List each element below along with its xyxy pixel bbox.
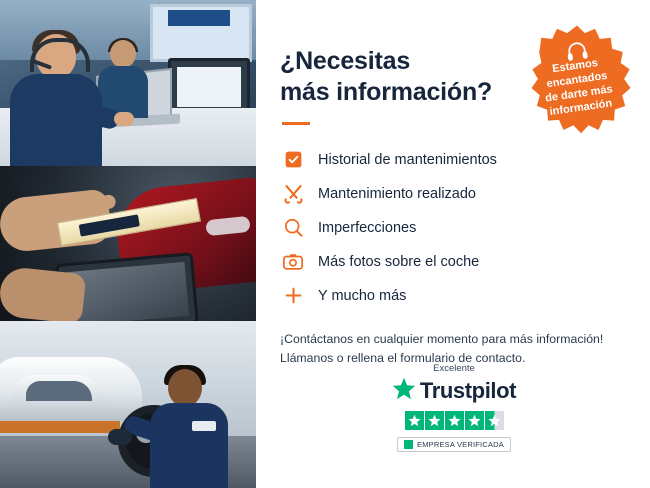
badge-text: Estamos encantados de darte más informac… bbox=[514, 17, 640, 143]
feature-item-more-photos: Más fotos sobre el coche bbox=[280, 245, 628, 278]
photo3-car-window bbox=[26, 381, 92, 401]
star-icon bbox=[405, 411, 424, 430]
photo1-colleague bbox=[96, 40, 150, 116]
feature-label: Mantenimiento realizado bbox=[318, 186, 476, 202]
star-icon-half bbox=[485, 411, 504, 430]
headline-line-1: ¿Necesitas bbox=[280, 47, 410, 75]
contact-paragraph-line-1: ¡Contáctanos en cualquier momento para m… bbox=[280, 332, 603, 346]
star-icon bbox=[425, 411, 444, 430]
trustpilot-logo: Trustpilot bbox=[280, 377, 628, 405]
photo1-advisor-headset bbox=[30, 38, 90, 72]
star-icon bbox=[465, 411, 484, 430]
feature-list: Historial de mantenimientos Mantenimient… bbox=[280, 143, 628, 312]
photo3-car-body bbox=[0, 357, 142, 421]
tools-icon bbox=[280, 181, 306, 207]
photo3-lift-arm bbox=[0, 421, 120, 433]
verified-badge: EMPRESA VERIFICADA bbox=[397, 437, 511, 452]
photo3-technician-body bbox=[150, 403, 228, 488]
content-panel: ¿Necesitas más información? Historial de… bbox=[256, 0, 650, 488]
headline-line-2: más información? bbox=[280, 78, 492, 106]
feature-item-much-more: Y mucho más bbox=[280, 279, 628, 312]
status-badge: Estamos encantados de darte más informac… bbox=[521, 24, 633, 136]
feature-item-imperfections: Imperfecciones bbox=[280, 211, 628, 244]
photo1-advisor-hand bbox=[114, 112, 134, 126]
photo1-banner bbox=[168, 10, 230, 26]
check-icon bbox=[404, 440, 413, 449]
photo-technician-car-on-lift bbox=[0, 321, 256, 488]
magnifier-icon bbox=[280, 215, 306, 241]
plus-icon bbox=[280, 283, 306, 309]
trustpilot-wordmark: Trustpilot bbox=[420, 378, 516, 404]
feature-label: Imperfecciones bbox=[318, 220, 416, 236]
trustpilot-block: Excelente Trustpilot bbox=[280, 363, 628, 454]
star-icon bbox=[445, 411, 464, 430]
clipboard-check-icon bbox=[280, 147, 306, 173]
feature-label: Más fotos sobre el coche bbox=[318, 254, 479, 270]
feature-label: Historial de mantenimientos bbox=[318, 152, 497, 168]
camera-icon bbox=[280, 249, 306, 275]
photo3-technician-glove bbox=[108, 429, 132, 445]
photo-column bbox=[0, 0, 256, 488]
photo-inspection-tablet-ruler bbox=[0, 166, 256, 321]
info-card: ¿Necesitas más información? Historial de… bbox=[0, 0, 650, 488]
photo3-technician-head bbox=[168, 369, 202, 407]
star-icon bbox=[392, 377, 416, 405]
trustpilot-stars bbox=[280, 411, 628, 430]
title-divider bbox=[282, 122, 310, 125]
photo3-technician-badge bbox=[192, 421, 216, 431]
photo2-hand-lower bbox=[0, 266, 86, 321]
photo1-advisor bbox=[10, 34, 102, 166]
trustpilot-rating-label: Excelente bbox=[280, 363, 628, 374]
feature-item-maintenance-history: Historial de mantenimientos bbox=[280, 143, 628, 176]
photo3-technician bbox=[146, 369, 238, 488]
verified-label: EMPRESA VERIFICADA bbox=[417, 440, 504, 449]
feature-item-maintenance-done: Mantenimiento realizado bbox=[280, 177, 628, 210]
photo2-tool-logo bbox=[79, 214, 140, 236]
photo1-colleague-head bbox=[110, 40, 136, 68]
feature-label: Y mucho más bbox=[318, 288, 406, 304]
photo-service-advisor-headset bbox=[0, 0, 256, 166]
